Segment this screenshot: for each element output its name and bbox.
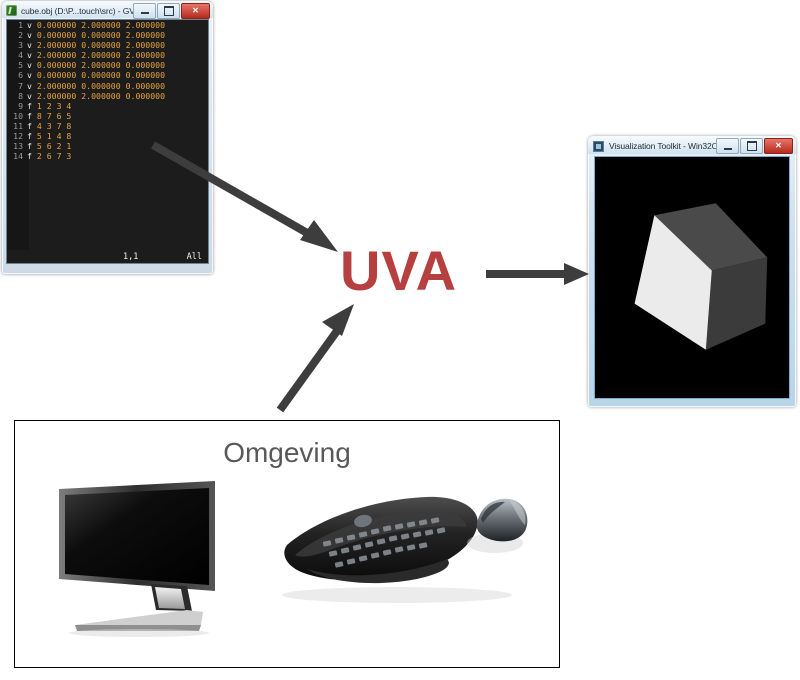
gvim-line-values: 2.000000 0.000000 2.000000 — [37, 40, 165, 50]
vtk-titlebar[interactable]: Visualization Toolkit - Win32Open... ✕ — [588, 136, 796, 154]
gvim-line-number: 13 — [7, 141, 23, 151]
gvim-scroll-indicator: All — [187, 252, 202, 262]
vim-icon — [6, 5, 17, 16]
gvim-line-number: 12 — [7, 131, 23, 141]
gvim-line-keyword: f — [27, 131, 37, 141]
monitor-graphic — [51, 479, 241, 639]
gvim-line-values: 2 6 7 3 — [37, 151, 72, 161]
gvim-line-keyword: f — [27, 101, 37, 111]
gvim-line-values: 8 7 6 5 — [37, 111, 72, 121]
gvim-empty-line-marker: ~ — [7, 222, 208, 232]
gvim-empty-line-marker: ~ — [7, 192, 208, 202]
gvim-line-keyword: v — [27, 60, 37, 70]
gvim-line-number: 9 — [7, 101, 23, 111]
gvim-code-line: 6v 0.000000 0.000000 0.000000 — [7, 70, 208, 80]
gvim-title-text: cube.obj (D:\P...touch\src) - GVIM — [21, 6, 133, 16]
gvim-line-values: 0.000000 2.000000 0.000000 — [37, 60, 165, 70]
gvim-maximize-button[interactable] — [157, 3, 180, 19]
gvim-window[interactable]: cube.obj (D:\P...touch\src) - GVIM ✕ 1v … — [2, 1, 213, 274]
gvim-line-number: 14 — [7, 151, 23, 161]
gvim-empty-line-marker: ~ — [7, 242, 208, 250]
gvim-code-line: 1v 0.000000 2.000000 2.000000 — [7, 20, 208, 30]
gvim-code-line: 2v 0.000000 0.000000 2.000000 — [7, 30, 208, 40]
gvim-empty-line-marker: ~ — [7, 171, 208, 181]
vtk-maximize-button[interactable] — [740, 138, 763, 154]
omgeving-title: Omgeving — [15, 437, 559, 469]
keyboard-graphic — [277, 483, 547, 608]
gvim-line-keyword: v — [27, 81, 37, 91]
vtk-render-canvas[interactable] — [594, 156, 790, 399]
gvim-cursor-position: 1,1 — [123, 252, 138, 262]
gvim-line-number: 8 — [7, 91, 23, 101]
gvim-line-values: 4 3 7 8 — [37, 121, 72, 131]
gvim-line-values: 0.000000 0.000000 0.000000 — [37, 70, 165, 80]
gvim-code-line: 10f 8 7 6 5 — [7, 111, 208, 121]
gvim-line-number: 4 — [7, 50, 23, 60]
gvim-close-button[interactable]: ✕ — [181, 3, 210, 19]
gvim-code-line: 8v 2.000000 2.000000 0.000000 — [7, 91, 208, 101]
gvim-titlebar[interactable]: cube.obj (D:\P...touch\src) - GVIM ✕ — [2, 1, 213, 18]
gvim-code-line: 14f 2 6 7 3 — [7, 151, 208, 161]
gvim-line-keyword: v — [27, 30, 37, 40]
gvim-text-area[interactable]: 1v 0.000000 2.000000 2.0000002v 0.000000… — [7, 20, 208, 250]
arrow-environment-to-uva — [272, 302, 362, 414]
gvim-line-number: 10 — [7, 111, 23, 121]
gvim-code-line: 11f 4 3 7 8 — [7, 121, 208, 131]
gvim-code-line: 5v 0.000000 2.000000 0.000000 — [7, 60, 208, 70]
cube-3d-render — [595, 157, 789, 398]
gvim-line-values: 0.000000 0.000000 2.000000 — [37, 30, 165, 40]
gvim-line-number: 2 — [7, 30, 23, 40]
gvim-code-lines: 1v 0.000000 2.000000 2.0000002v 0.000000… — [7, 20, 208, 250]
vtk-window[interactable]: Visualization Toolkit - Win32Open... ✕ — [588, 136, 796, 407]
gvim-line-keyword: v — [27, 20, 37, 30]
gvim-empty-line-marker: ~ — [7, 212, 208, 222]
gvim-line-keyword: v — [27, 40, 37, 50]
gvim-empty-line-marker: ~ — [7, 182, 208, 192]
gvim-line-keyword: f — [27, 111, 37, 121]
gvim-line-number: 7 — [7, 81, 23, 91]
gvim-line-values: 2.000000 2.000000 2.000000 — [37, 50, 165, 60]
page-title-uva: UVA — [340, 243, 457, 299]
vtk-window-controls: ✕ — [716, 138, 793, 154]
gvim-line-number: 11 — [7, 121, 23, 131]
gvim-line-number: 5 — [7, 60, 23, 70]
gvim-line-values: 0.000000 2.000000 2.000000 — [37, 20, 165, 30]
vtk-title-text: Visualization Toolkit - Win32Open... — [609, 141, 716, 151]
gvim-code-line: 9f 1 2 3 4 — [7, 101, 208, 111]
gvim-line-values: 2.000000 2.000000 0.000000 — [37, 91, 165, 101]
gvim-window-controls: ✕ — [133, 3, 210, 19]
gvim-status-bar: 1,1 All — [7, 250, 208, 263]
gvim-line-keyword: f — [27, 141, 37, 151]
gvim-line-number: 1 — [7, 20, 23, 30]
omgeving-panel: Omgeving — [14, 420, 560, 668]
arrow-uva-to-viewer — [484, 258, 594, 290]
gvim-line-values: 5 6 2 1 — [37, 141, 72, 151]
gvim-line-keyword: f — [27, 151, 37, 161]
gvim-line-keyword: v — [27, 50, 37, 60]
gvim-line-values: 2.000000 0.000000 0.000000 — [37, 81, 165, 91]
gvim-code-line: 7v 2.000000 0.000000 0.000000 — [7, 81, 208, 91]
gvim-line-keyword: v — [27, 70, 37, 80]
gvim-code-line: 4v 2.000000 2.000000 2.000000 — [7, 50, 208, 60]
gvim-empty-line-marker: ~ — [7, 161, 208, 171]
gvim-empty-line-marker: ~ — [7, 202, 208, 212]
vtk-close-button[interactable]: ✕ — [764, 138, 793, 154]
gvim-editor-body[interactable]: 1v 0.000000 2.000000 2.0000002v 0.000000… — [6, 19, 209, 264]
gvim-code-line: 3v 2.000000 0.000000 2.000000 — [7, 40, 208, 50]
gvim-code-line: 12f 5 1 4 8 — [7, 131, 208, 141]
gvim-line-keyword: v — [27, 91, 37, 101]
gvim-minimize-button[interactable] — [133, 3, 156, 19]
vtk-icon — [593, 141, 604, 152]
gvim-line-number: 6 — [7, 70, 23, 80]
gvim-line-values: 5 1 4 8 — [37, 131, 72, 141]
gvim-line-values: 1 2 3 4 — [37, 101, 72, 111]
vtk-minimize-button[interactable] — [716, 138, 739, 154]
gvim-line-number: 3 — [7, 40, 23, 50]
gvim-line-keyword: f — [27, 121, 37, 131]
gvim-empty-line-marker: ~ — [7, 232, 208, 242]
gvim-code-line: 13f 5 6 2 1 — [7, 141, 208, 151]
